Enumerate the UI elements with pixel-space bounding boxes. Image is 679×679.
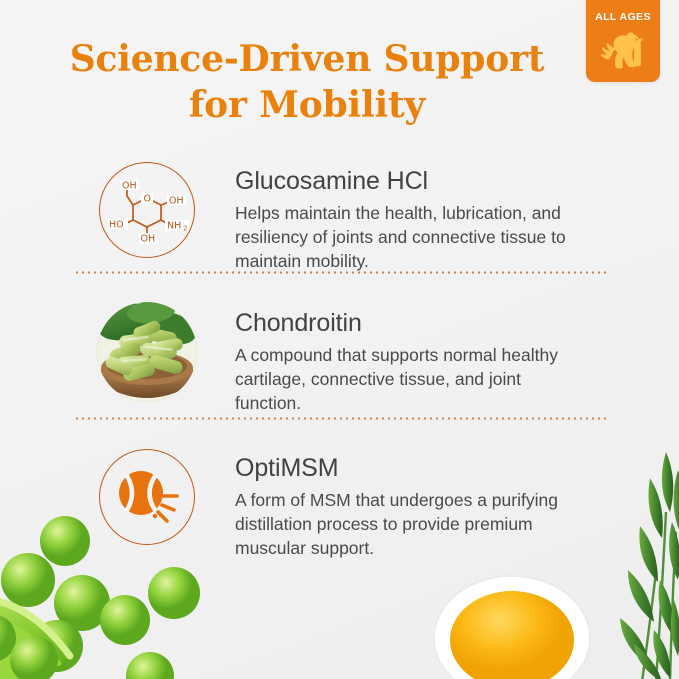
feature-title: Glucosamine HCl — [235, 167, 575, 196]
page-title-line-1: Science-Driven Support — [42, 36, 572, 82]
bowl-of-golden-oil-image — [432, 572, 610, 679]
feature-text-block: OptiMSM A form of MSM that undergoes a p… — [235, 447, 575, 560]
photo-circle-mask — [97, 302, 197, 402]
section-divider — [74, 271, 606, 274]
section-divider — [74, 417, 606, 420]
page-title: Science-Driven Support for Mobility — [42, 36, 572, 128]
rosemary-herb-sprigs-image — [604, 430, 679, 679]
page-title-line-2: for Mobility — [42, 82, 572, 128]
feature-description: Helps maintain the health, lubrication, … — [235, 201, 575, 273]
feature-item-optimsm: OptiMSM A form of MSM that undergoes a p… — [97, 447, 575, 560]
capsules-illustration — [97, 302, 197, 402]
icon-ring — [99, 449, 195, 545]
feature-description: A form of MSM that undergoes a purifying… — [235, 488, 575, 560]
feature-title: Chondroitin — [235, 309, 575, 338]
promotional-infographic-panel: ALL AGES Science-Driven Support for Mobi… — [0, 0, 679, 679]
all-ages-badge: ALL AGES — [586, 0, 660, 82]
tennis-ball-motion-icon — [97, 447, 197, 547]
dog-silhouette-icon — [595, 26, 651, 74]
green-capsules-photo — [97, 302, 197, 402]
feature-item-glucosamine: O OH OH NH 2 HO OH Glucosamine HCl Helps… — [97, 160, 575, 273]
feature-title: OptiMSM — [235, 454, 575, 483]
feature-item-chondroitin: Chondroitin A compound that supports nor… — [97, 302, 575, 415]
feature-text-block: Chondroitin A compound that supports nor… — [235, 302, 575, 415]
feature-description: A compound that supports normal healthy … — [235, 343, 575, 415]
feature-text-block: Glucosamine HCl Helps maintain the healt… — [235, 160, 575, 273]
all-ages-badge-label: ALL AGES — [586, 11, 660, 23]
icon-ring — [99, 162, 195, 258]
glucosamine-molecule-icon: O OH OH NH 2 HO OH — [97, 160, 197, 260]
